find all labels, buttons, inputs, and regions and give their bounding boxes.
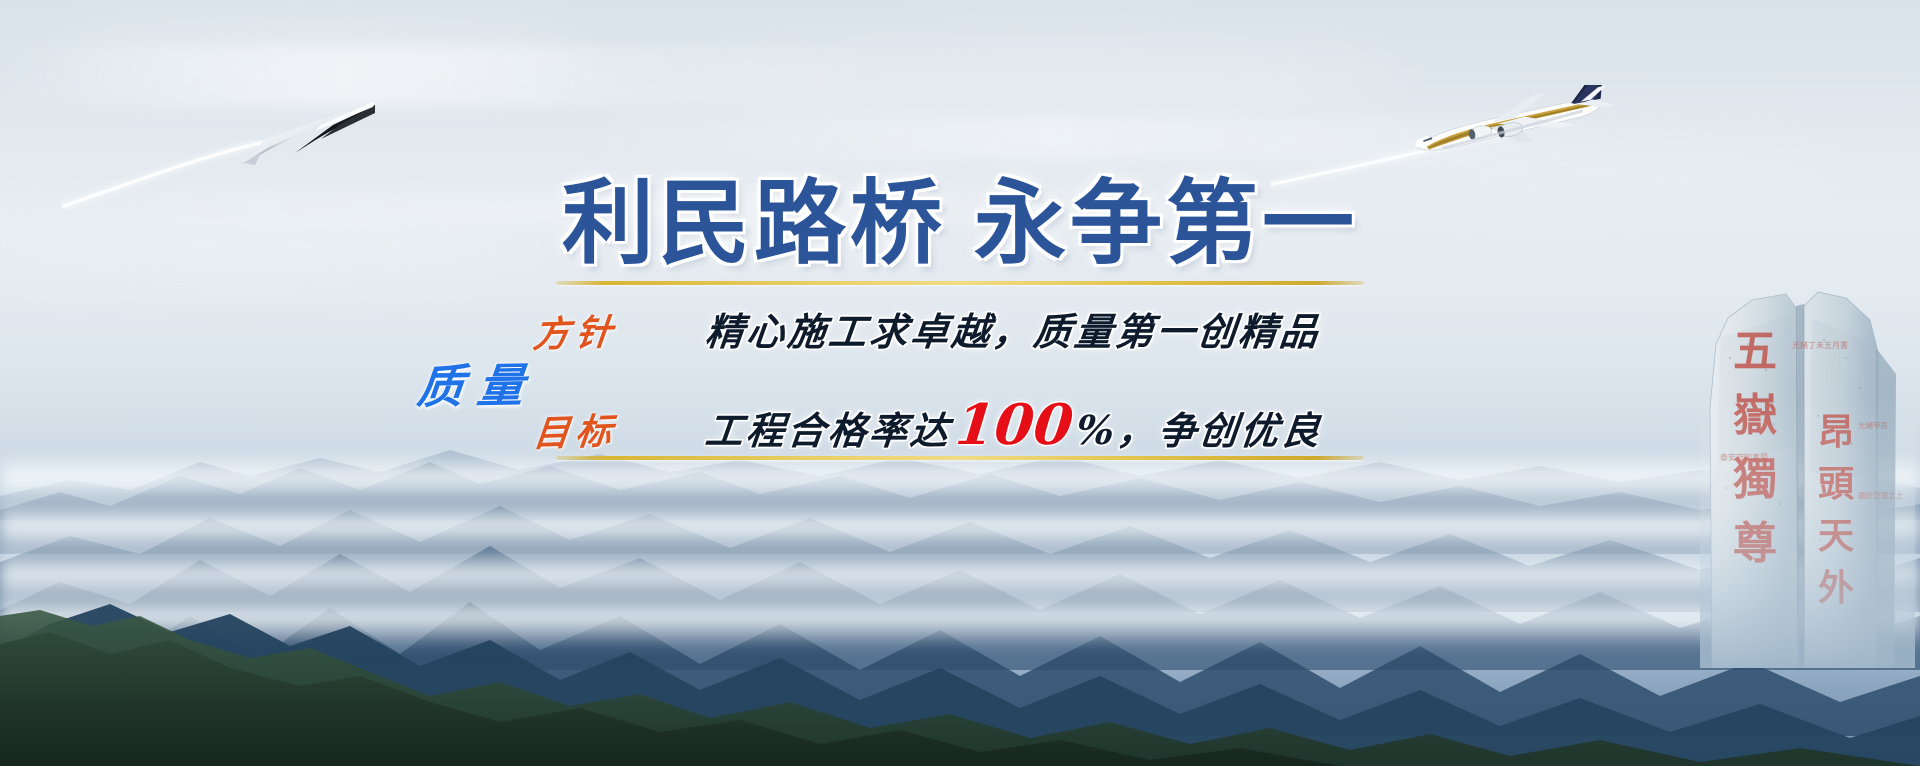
row-policy: 方针 精心施工求卓越，质量第一创精品	[534, 301, 1321, 356]
goal-phrase-after: ，争创优良	[1115, 408, 1325, 453]
policy-phrase: 精心施工求卓越，质量第一创精品	[703, 301, 1324, 356]
goal-phrase: 工程合格率达100%，争创优良	[703, 392, 1327, 458]
row-goal: 目标 工程合格率达100%，争创优良	[534, 392, 1323, 458]
banner-stage: 五 嶽 獨 尊 光緒丁未五月書 泰安府知事題 昂 頭 天 外 光緒甲辰 題於岱頂…	[0, 0, 1920, 766]
goal-highlight-100: 100	[949, 392, 1081, 458]
page-title: 利民路桥永争第一	[562, 178, 1358, 270]
svg-text:五: 五	[1733, 326, 1777, 377]
paper-airplane-icon	[225, 95, 385, 180]
stone-stele: 五 嶽 獨 尊 光緒丁未五月書 泰安府知事題 昂 頭 天 外 光緒甲辰 題於岱頂…	[1700, 248, 1915, 668]
divider-top	[556, 281, 1364, 285]
goal-percent-sign: %	[1074, 407, 1120, 454]
goal-phrase-before: 工程合格率达	[703, 408, 954, 453]
quality-label: 质量	[414, 349, 541, 417]
jet-airliner-icon	[1398, 85, 1628, 165]
divider-bottom	[556, 456, 1364, 460]
mountain-ridge-foreground	[0, 610, 1920, 766]
title-part-1: 利民路桥	[562, 170, 946, 277]
policy-tag: 方针	[531, 302, 657, 358]
svg-text:光緒丁未五月書: 光緒丁未五月書	[1792, 340, 1848, 350]
goal-tag: 目标	[531, 401, 657, 457]
title-part-2: 永争第一	[974, 170, 1358, 277]
